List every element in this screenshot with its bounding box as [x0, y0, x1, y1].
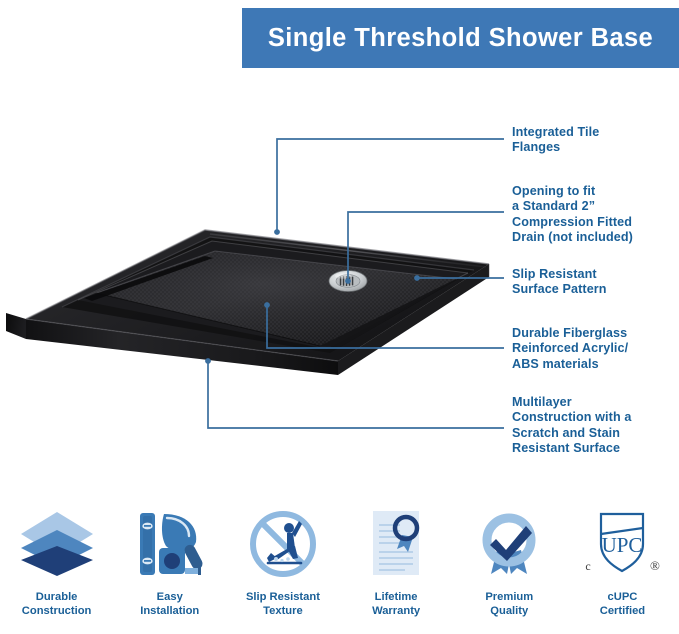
feature-label: Slip Resistant Texture — [246, 591, 320, 618]
checkmark-rosette-icon — [466, 504, 552, 584]
layered-diamonds-icon — [14, 504, 100, 584]
upc-left-letter: c — [586, 559, 591, 573]
upc-mark-text: UPC — [602, 533, 643, 557]
callout-integrated-tile-flanges: Integrated Tile Flanges — [512, 125, 599, 156]
feature-label: Premium Quality — [485, 591, 533, 618]
feature-lifetime-warranty: Lifetime Warranty — [340, 500, 453, 634]
feature-label: cUPC Certified — [600, 591, 645, 618]
feature-cupc-certified: UPC c ® cUPC Certified — [566, 500, 679, 634]
product-illustration — [0, 215, 505, 375]
upc-registered-symbol: ® — [650, 558, 660, 573]
certificate-ribbon-icon — [353, 504, 439, 584]
upc-shield-icon: UPC c ® — [579, 504, 665, 584]
feature-label: Lifetime Warranty — [372, 591, 420, 618]
no-slip-sign-icon — [240, 504, 326, 584]
feature-label: Easy Installation — [140, 591, 199, 618]
callout-durable-materials: Durable Fiberglass Reinforced Acrylic/ A… — [512, 326, 628, 372]
page-title: Single Threshold Shower Base — [268, 24, 653, 53]
feature-slip-resistant-texture: Slip Resistant Texture — [226, 500, 339, 634]
callout-drain-opening: Opening to fit a Standard 2” Compression… — [512, 184, 633, 246]
feature-easy-installation: Easy Installation — [113, 500, 226, 634]
callout-multilayer-construction: Multilayer Construction with a Scratch a… — [512, 395, 631, 457]
feature-label: Durable Construction — [22, 591, 92, 618]
chrome-oval-drain-cover — [329, 271, 367, 292]
page-title-banner: Single Threshold Shower Base — [242, 8, 679, 68]
feature-premium-quality: Premium Quality — [453, 500, 566, 634]
feature-durable-construction: Durable Construction — [0, 500, 113, 634]
callout-slip-resistant-surface: Slip Resistant Surface Pattern — [512, 267, 607, 298]
level-trowel-tape-icon — [127, 504, 213, 584]
feature-badge-strip: Durable Construction — [0, 500, 679, 634]
